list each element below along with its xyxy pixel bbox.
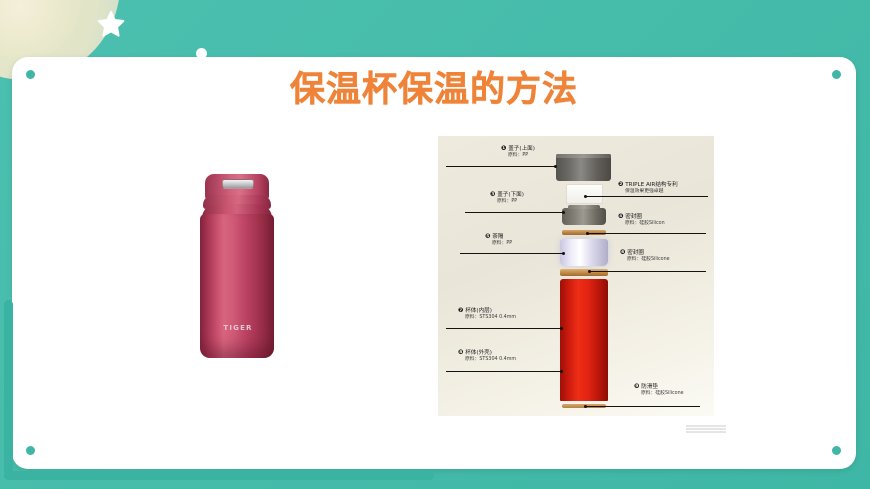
leader-dot-9 — [584, 405, 587, 408]
corner-dot-bottom-left — [26, 446, 35, 455]
diagram-label-8: ❽ 杯体(外壳) 原料：STS304 0.4mm — [458, 348, 516, 364]
corner-dot-bottom-right — [832, 446, 841, 455]
leader-line-7 — [446, 328, 562, 329]
diagram-label-6: ❻ 密封圈 原料：硅胶Silicone — [620, 248, 670, 264]
leader-line-8 — [446, 371, 562, 372]
leader-line-3 — [465, 212, 564, 213]
leader-dot-2 — [584, 195, 587, 198]
diagram-label-7: ❼ 杯体(内层) 原料：STS304 0.4mm — [458, 306, 516, 322]
leader-line-1 — [446, 166, 556, 167]
diagram-label-3: ❸ 盖子(下面) 原料：PP — [490, 190, 524, 206]
page-title: 保温杯保温的方法 — [12, 61, 856, 112]
decorative-stripe-bottom — [4, 471, 434, 480]
brand-label: TIGER — [186, 324, 290, 332]
label-material-7: 原料：STS304 0.4mm — [458, 315, 516, 322]
label-number-8: ❽ — [458, 348, 463, 356]
label-material-5: 原料：PP — [485, 241, 512, 248]
label-number-5: ❺ — [485, 232, 490, 240]
content-card: 保温杯保温的方法 — [12, 57, 856, 469]
exploded-diagram: ❶ 盖子(上面) 原料：PP ❷ TRIPLE AIR结构专利 保温效果更强卓越… — [438, 136, 714, 416]
label-material-3: 原料：PP — [490, 199, 524, 206]
leader-dot-8 — [560, 370, 563, 373]
diagram-label-5: ❺ 茶隔 原料：PP — [485, 232, 512, 248]
part-bottle-body — [560, 279, 608, 401]
label-name-2: TRIPLE AIR结构专利 — [625, 182, 678, 188]
part-triple-air — [566, 184, 603, 204]
label-number-6: ❻ — [620, 248, 625, 256]
star-icon — [96, 10, 126, 39]
diagram-label-9: ❾ 防滑垫 原料：硅胶Silicone — [634, 382, 684, 398]
label-name-3: 盖子(下面) — [497, 192, 524, 198]
label-name-4: 密封圈 — [625, 214, 642, 220]
label-name-7: 杯体(内层) — [465, 308, 492, 314]
bottle-body — [200, 214, 274, 358]
label-name-1: 盖子(上面) — [508, 146, 535, 152]
part-cap-bottom — [562, 208, 606, 225]
product-photo: TIGER — [186, 168, 290, 358]
label-number-7: ❼ — [458, 306, 463, 314]
label-number-1: ❶ — [501, 144, 506, 152]
label-material-8: 原料：STS304 0.4mm — [458, 357, 516, 364]
decorative-stripe-left — [4, 300, 13, 475]
label-name-8: 杯体(外壳) — [465, 350, 492, 356]
leader-line-2 — [586, 196, 708, 197]
leader-dot-6 — [588, 270, 591, 273]
leader-line-5 — [460, 253, 564, 254]
label-number-3: ❸ — [490, 190, 495, 198]
part-cap-top — [556, 154, 611, 181]
label-number-9: ❾ — [634, 382, 639, 390]
part-bottle-thread — [686, 424, 726, 434]
label-number-4: ❹ — [618, 212, 623, 220]
diagram-label-1: ❶ 盖子(上面) 原料：PP — [501, 144, 535, 160]
leader-line-9 — [586, 406, 700, 407]
leader-line-4 — [588, 233, 706, 234]
leader-dot-7 — [560, 327, 563, 330]
label-material-6: 原料：硅胶Silicone — [620, 257, 670, 264]
diagram-label-2: ❷ TRIPLE AIR结构专利 保温效果更强卓越 — [618, 180, 678, 196]
bottle-cap-button — [222, 179, 254, 189]
label-name-6: 密封圈 — [627, 250, 644, 256]
label-material-4: 原料：硅胶Silicon — [618, 221, 665, 228]
label-number-2: ❷ — [618, 180, 623, 188]
label-name-5: 茶隔 — [492, 234, 503, 240]
part-tea-strainer — [560, 239, 608, 266]
label-name-9: 防滑垫 — [641, 384, 658, 390]
label-material-1: 原料：PP — [501, 153, 535, 160]
label-material-9: 原料：硅胶Silicone — [634, 391, 684, 398]
leader-line-6 — [590, 271, 706, 272]
diagram-label-4: ❹ 密封圈 原料：硅胶Silicon — [618, 212, 665, 228]
slide-canvas: 保温杯保温的方法 TIGER ❶ 盖 — [0, 0, 870, 489]
leader-dot-3 — [562, 211, 565, 214]
leader-dot-5 — [562, 252, 565, 255]
leader-dot-4 — [586, 232, 589, 235]
leader-dot-1 — [554, 165, 557, 168]
